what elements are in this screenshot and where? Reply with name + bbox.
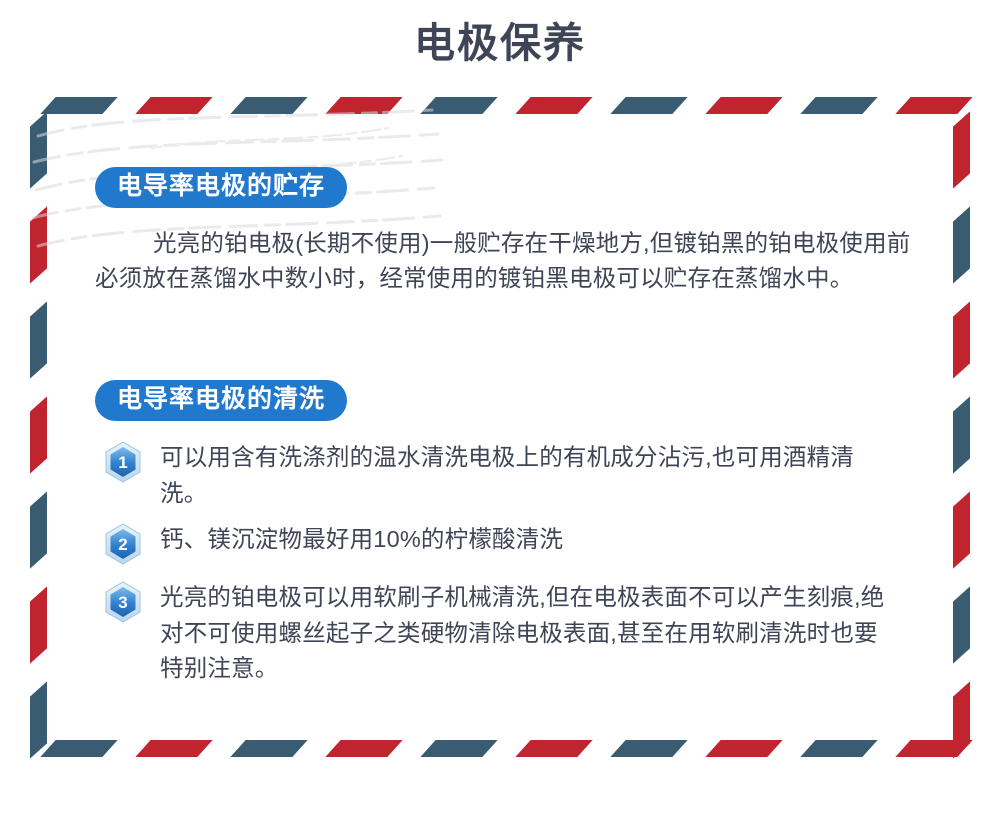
border-stripe-bottom xyxy=(40,740,117,757)
badge-number: 3 xyxy=(118,593,127,612)
border-stripe-bottom xyxy=(705,740,782,757)
border-stripe-right xyxy=(953,301,970,378)
border-stripe-bottom xyxy=(230,740,307,757)
hexagon-badge-icon: 3 xyxy=(104,581,142,623)
hexagon-badge-icon: 2 xyxy=(104,523,142,565)
border-stripe-top xyxy=(40,97,117,114)
list-item: 3 光亮的铂电极可以用软刷子机械清洗,但在电极表面不可以产生刻痕,绝对不可使用螺… xyxy=(0,580,1000,687)
list-item: 1 可以用含有洗涤剂的温水清洗电极上的有机成分沾污,也可用酒精清洗。 xyxy=(0,440,1000,511)
border-stripe-left xyxy=(30,301,47,378)
border-stripe-bottom xyxy=(135,740,212,757)
section-heading-storage: 电导率电极的贮存 xyxy=(95,167,347,208)
border-stripe-top xyxy=(610,97,687,114)
section-storage: 电导率电极的贮存 光亮的铂电极(长期不使用)一般贮存在干燥地方,但镀铂黑的铂电极… xyxy=(0,167,1000,297)
paragraph-text: 光亮的铂电极(长期不使用)一般贮存在干燥地方,但镀铂黑的铂电极使用前必须放在蒸馏… xyxy=(95,230,910,292)
list-item-text: 钙、镁沉淀物最好用10%的柠檬酸清洗 xyxy=(160,522,900,558)
page-title: 电极保养 xyxy=(0,18,1000,69)
border-stripe-bottom xyxy=(515,740,592,757)
border-stripe-top xyxy=(895,97,972,114)
border-stripe-top xyxy=(420,97,497,114)
border-stripe-top xyxy=(515,97,592,114)
poster-page: 电极保养 电导率电极的贮存 光亮的铂电极(长期不使用)一般贮存在干燥地方 xyxy=(0,0,1000,822)
section-storage-paragraph: 光亮的铂电极(长期不使用)一般贮存在干燥地方,但镀铂黑的铂电极使用前必须放在蒸馏… xyxy=(95,226,922,297)
list-item-text: 光亮的铂电极可以用软刷子机械清洗,但在电极表面不可以产生刻痕,绝对不可使用螺丝起… xyxy=(160,580,900,687)
section-cleaning: 电导率电极的清洗 xyxy=(0,380,1000,421)
hexagon-badge-icon: 1 xyxy=(104,441,142,483)
border-stripe-top xyxy=(230,97,307,114)
border-stripe-top xyxy=(800,97,877,114)
border-stripe-right xyxy=(953,681,970,758)
border-stripe-bottom xyxy=(800,740,877,757)
border-stripe-top xyxy=(135,97,212,114)
border-stripe-bottom xyxy=(325,740,402,757)
border-stripe-top xyxy=(325,97,402,114)
list-item: 2 钙、镁沉淀物最好用10%的柠檬酸清洗 xyxy=(0,522,1000,565)
badge-number: 2 xyxy=(118,535,127,554)
section-heading-cleaning: 电导率电极的清洗 xyxy=(95,380,347,421)
border-stripe-left xyxy=(30,681,47,758)
border-stripe-bottom xyxy=(420,740,497,757)
list-item-text: 可以用含有洗涤剂的温水清洗电极上的有机成分沾污,也可用酒精清洗。 xyxy=(160,440,900,511)
border-stripe-bottom xyxy=(610,740,687,757)
badge-number: 1 xyxy=(118,453,127,472)
border-stripe-top xyxy=(705,97,782,114)
